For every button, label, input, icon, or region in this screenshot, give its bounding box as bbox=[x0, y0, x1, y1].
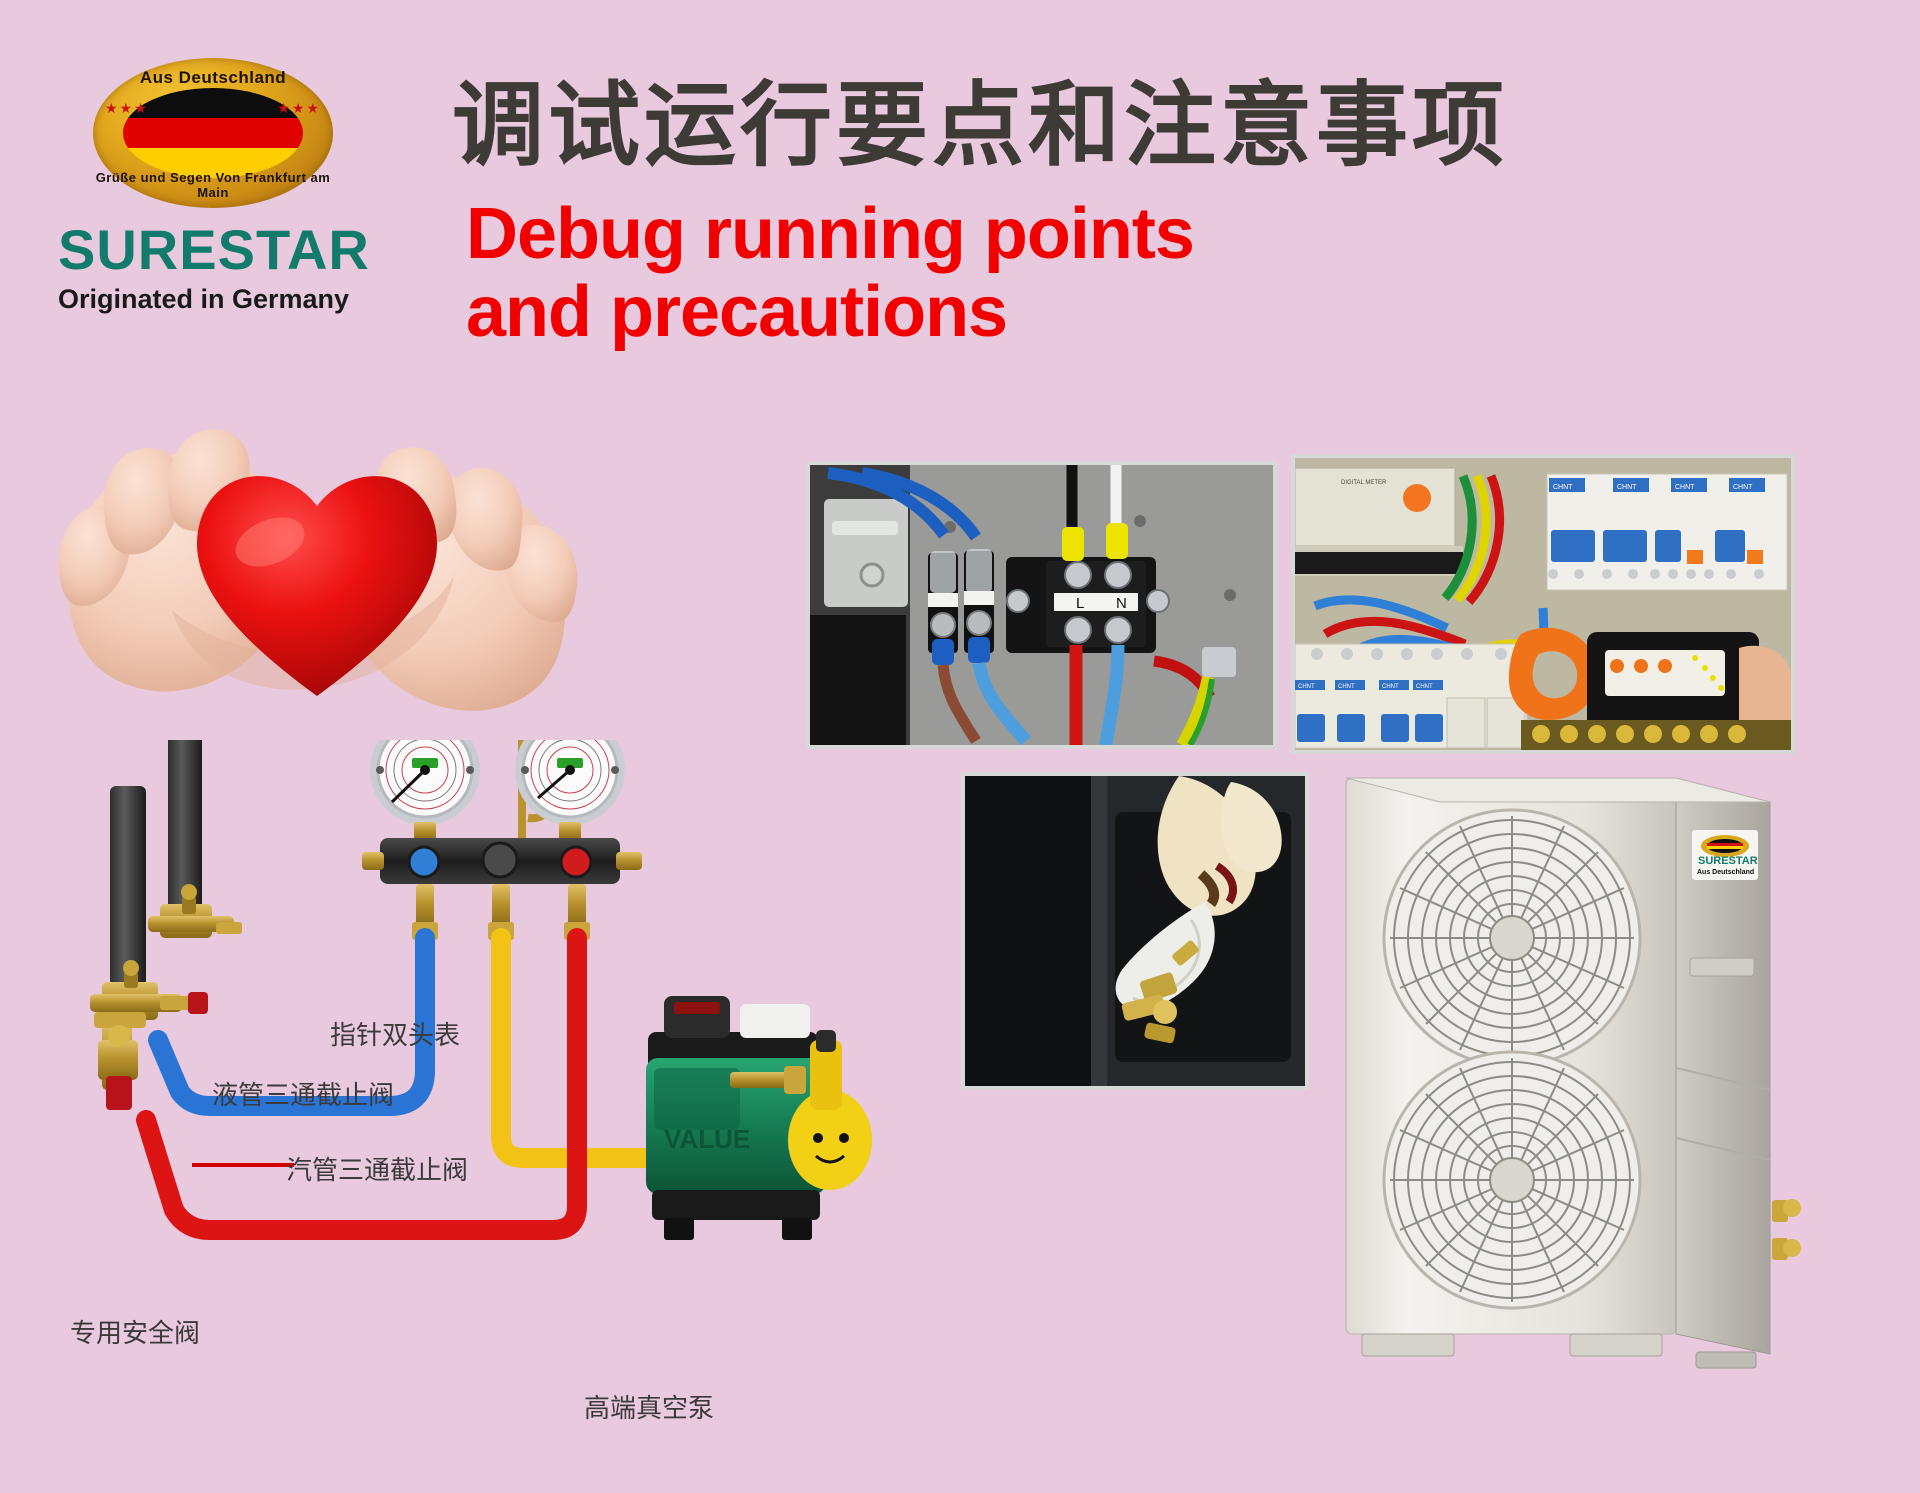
german-seal-logo: Aus Deutschland ★★★ ★★★ Grüße und Segen … bbox=[93, 58, 333, 208]
label-gas-line-valve: 汽管三通截止阀 bbox=[286, 1150, 468, 1187]
high-pressure-gauge bbox=[515, 740, 625, 840]
svg-text:DIGITAL METER: DIGITAL METER bbox=[1341, 480, 1387, 486]
brass-terminal-strip bbox=[1521, 720, 1791, 750]
label-vacuum-pump: 高端真空泵 bbox=[584, 1388, 714, 1425]
pipe-insulation-illustration bbox=[965, 776, 1305, 1086]
svg-text:CHNT: CHNT bbox=[1298, 684, 1315, 690]
terminal-block-illustration: L N bbox=[810, 465, 1273, 745]
svg-text:VALUE: VALUE bbox=[664, 1124, 750, 1154]
svg-text:CHNT: CHNT bbox=[1338, 684, 1355, 690]
gloved-hands-pipe-insulation-photo bbox=[961, 772, 1309, 1090]
svg-text:CHNT: CHNT bbox=[1733, 484, 1753, 491]
unit-logo-name: SURESTAR bbox=[1698, 855, 1758, 867]
svg-text:CHNT: CHNT bbox=[1617, 484, 1637, 491]
brand-block: Aus Deutschland ★★★ ★★★ Grüße und Segen … bbox=[58, 58, 398, 315]
seal-bottom-text: Grüße und Segen Von Frankfurt am Main bbox=[93, 170, 333, 200]
seal-stars-right-icon: ★★★ bbox=[277, 100, 321, 117]
terminal-block-wiring-photo: L N bbox=[806, 461, 1277, 749]
low-side-knob bbox=[409, 847, 439, 877]
svg-text:CHNT: CHNT bbox=[1675, 484, 1695, 491]
low-pressure-gauge bbox=[370, 740, 480, 840]
heat-pump-outdoor-unit-photo: SURESTAR Aus Deutschland bbox=[1340, 768, 1820, 1388]
high-side-knob bbox=[561, 847, 591, 877]
breaker-panel-clamp-meter-photo: DIGITAL METER CHNTCHNT CHNTCHNT bbox=[1291, 454, 1795, 754]
label-liquid-line-valve: 液管三通截止阀 bbox=[212, 1075, 394, 1112]
sight-glass bbox=[483, 843, 517, 877]
svg-text:CHNT: CHNT bbox=[1416, 684, 1433, 690]
dedicated-safety-valve bbox=[94, 1012, 146, 1110]
seal-top-text: Aus Deutschland bbox=[93, 68, 333, 88]
fan-grill-bottom bbox=[1384, 1052, 1640, 1308]
commissioning-diagram: VALUE 指针双头表 液管三通截止阀 汽管三通截止阀 专用安 bbox=[40, 740, 910, 1440]
subtitle-line-1: Debug running points bbox=[466, 196, 1194, 274]
svg-text:CHNT: CHNT bbox=[1382, 684, 1399, 690]
liquid-line-3way-valve bbox=[148, 884, 242, 938]
breaker-panel-illustration: DIGITAL METER CHNTCHNT CHNTCHNT bbox=[1295, 458, 1791, 750]
insulated-pipe-b bbox=[110, 786, 146, 986]
breaker-bank-top: CHNTCHNT CHNTCHNT bbox=[1547, 474, 1787, 590]
svg-text:CHNT: CHNT bbox=[1553, 484, 1573, 491]
unit-brand-logo: SURESTAR Aus Deutschland bbox=[1692, 830, 1758, 880]
service-valves bbox=[1772, 1199, 1801, 1260]
german-flag-icon bbox=[123, 88, 303, 178]
unit-logo-sub: Aus Deutschland bbox=[1697, 869, 1754, 876]
outdoor-unit-illustration: SURESTAR Aus Deutschland bbox=[1340, 768, 1820, 1388]
page-title-chinese: 调试运行要点和注意事项 bbox=[452, 78, 1508, 175]
poster-root: Aus Deutschland ★★★ ★★★ Grüße und Segen … bbox=[0, 0, 1920, 1493]
seal-stars-left-icon: ★★★ bbox=[105, 100, 149, 117]
fan-grill-top bbox=[1384, 810, 1640, 1066]
vacuum-pump: VALUE bbox=[646, 996, 872, 1240]
insulated-pipe-a bbox=[168, 740, 202, 910]
terminal-label-N: N bbox=[1116, 595, 1127, 612]
label-safety-valve: 专用安全阀 bbox=[70, 1313, 200, 1350]
breaker-bank-bottom: CHNTCHNT CHNTCHNT bbox=[1295, 644, 1527, 748]
manifold-gauge-set bbox=[362, 740, 642, 940]
label-manifold-gauge: 指针双头表 bbox=[330, 1015, 460, 1052]
brand-name: SURESTAR bbox=[58, 222, 398, 278]
terminal-label-L: L bbox=[1076, 595, 1084, 612]
